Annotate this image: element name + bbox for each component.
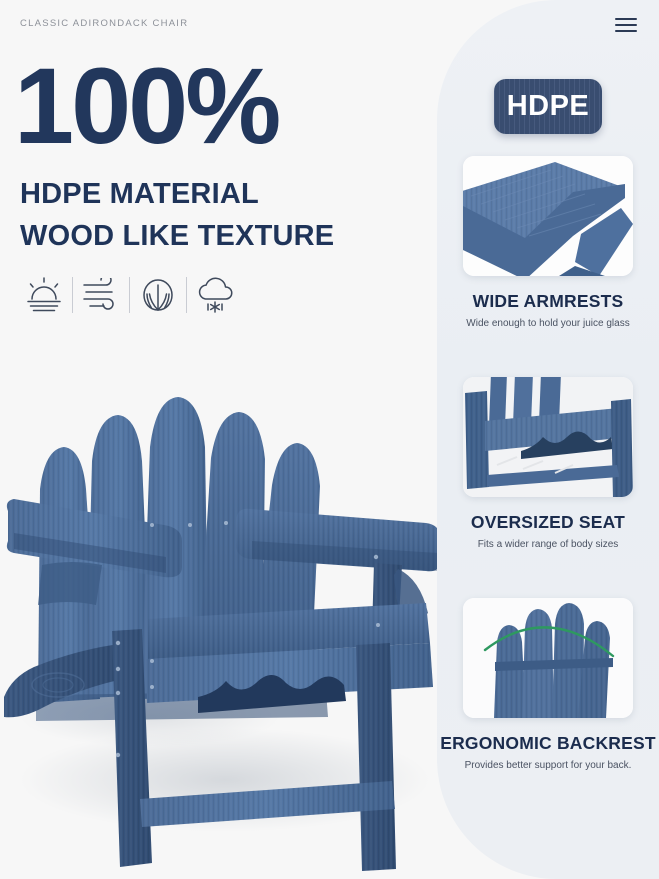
armrest-closeup-thumbnail <box>463 156 633 276</box>
hamburger-line <box>615 30 637 32</box>
feature-title: OVERSIZED SEAT <box>437 512 659 533</box>
sun-uv-resistant-icon <box>16 274 72 316</box>
hero-subtitle-line-2: WOOD LIKE TEXTURE <box>20 216 334 258</box>
hamburger-menu-icon[interactable] <box>615 18 637 32</box>
hero-subtitle: HDPE MATERIAL WOOD LIKE TEXTURE <box>20 174 334 258</box>
adirondack-chair-photo <box>0 325 440 879</box>
feature-title: WIDE ARMRESTS <box>437 291 659 312</box>
weather-resistance-icon-strip <box>16 274 243 316</box>
backrest-closeup-thumbnail <box>463 598 633 718</box>
feature-oversized-seat: OVERSIZED SEAT Fits a wider range of bod… <box>437 377 659 550</box>
hamburger-line <box>615 24 637 26</box>
feature-ergonomic-backrest: ERGONOMIC BACKREST Provides better suppo… <box>437 598 659 771</box>
feature-description: Wide enough to hold your juice glass <box>437 318 659 329</box>
feature-panel: HDPE WIDE ARMRESTS Wide en <box>437 0 659 879</box>
wind-resistant-icon <box>73 274 129 316</box>
feature-wide-armrests: WIDE ARMRESTS Wide enough to hold your j… <box>437 156 659 329</box>
hero-percent: 100% <box>14 56 278 155</box>
feature-description: Fits a wider range of body sizes <box>437 539 659 550</box>
feature-description: Provides better support for your back. <box>437 760 659 771</box>
seat-closeup-thumbnail <box>463 377 633 497</box>
shell-fade-proof-icon <box>130 274 186 316</box>
page-kicker: CLASSIC ADIRONDACK CHAIR <box>20 18 188 29</box>
hero-subtitle-line-1: HDPE MATERIAL <box>20 174 334 216</box>
hamburger-line <box>615 18 637 20</box>
snow-cloud-weatherproof-icon <box>187 274 243 316</box>
feature-title: ERGONOMIC BACKREST <box>437 733 659 754</box>
hdpe-badge-label: HDPE <box>507 90 590 123</box>
infographic-root: CLASSIC ADIRONDACK CHAIR 100% HDPE MATER… <box>0 0 659 879</box>
hdpe-material-badge: HDPE <box>494 79 602 134</box>
